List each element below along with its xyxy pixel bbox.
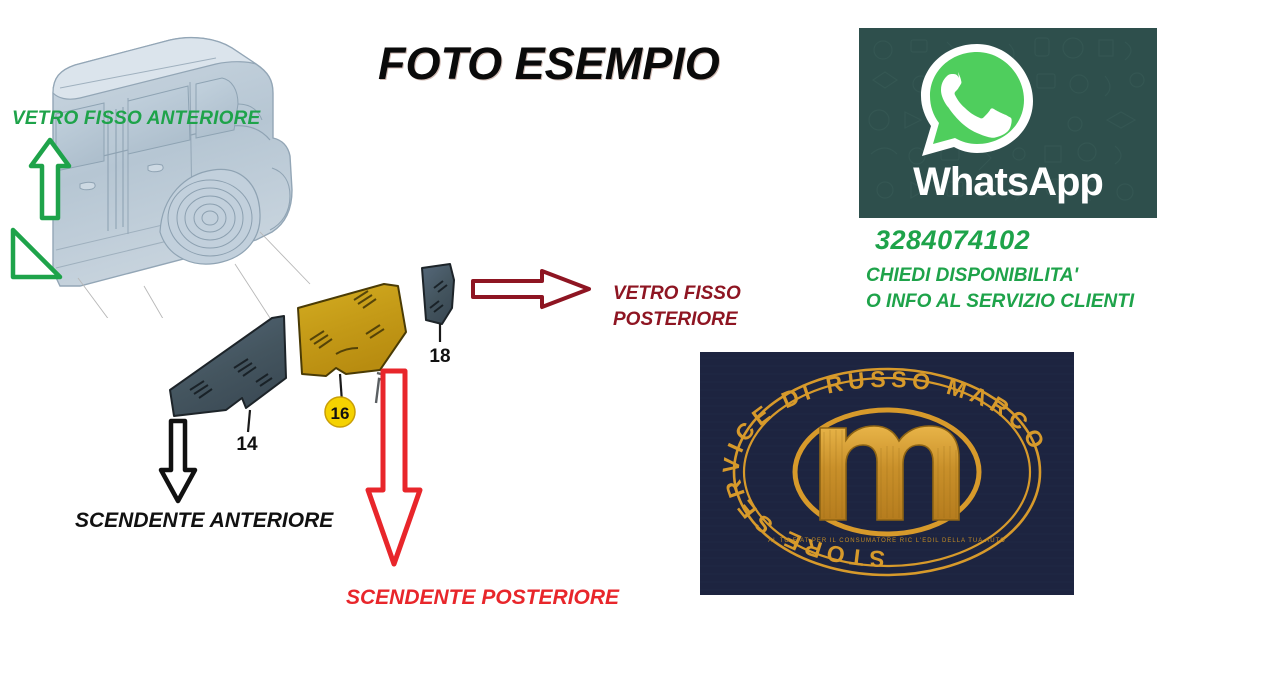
label-front-fixed-glass: VETRO FISSO ANTERIORE (12, 108, 260, 130)
shop-logo-tagline: AL TO FIAT PER IL CONSUMATORE RIC L'EDIL… (768, 538, 1006, 544)
whatsapp-banner: WhatsApp (859, 28, 1157, 218)
contact-instructions: CHIEDI DISPONIBILITA' O INFO AL SERVIZIO… (866, 263, 1134, 314)
part-17-guide-rail (376, 373, 392, 403)
shop-logo-icon: MRICAMBISTORE SERVICE DI RUSSO MARCO AL … (700, 352, 1074, 595)
poster-canvas: 14 16 17 (0, 0, 1264, 678)
part-number-14: 14 (236, 434, 258, 455)
part-number-17: 17 (379, 400, 400, 421)
exploded-glass-parts: 14 16 17 (150, 250, 490, 470)
label-rear-drop-glass: SCENDENTE POSTERIORE (346, 586, 619, 610)
part-18-quarter-glass (422, 264, 454, 324)
phone-number[interactable]: 3284074102 (875, 225, 1030, 256)
label-front-drop-glass: SCENDENTE ANTERIORE (75, 509, 333, 533)
label-rear-fixed-glass-line1: VETRO FISSO (613, 281, 741, 307)
shop-logo-monogram (820, 426, 959, 520)
contact-line-1: CHIEDI DISPONIBILITA' (866, 263, 1134, 289)
whatsapp-logo-icon (911, 38, 1043, 164)
contact-line-2: O INFO AL SERVIZIO CLIENTI (866, 289, 1134, 315)
part-number-16: 16 (331, 404, 350, 423)
label-rear-fixed-glass: VETRO FISSO POSTERIORE (613, 281, 741, 332)
part-14-front-door-glass (170, 316, 286, 416)
parts-svg: 14 16 17 (150, 250, 490, 470)
whatsapp-wordmark: WhatsApp (859, 160, 1157, 205)
shop-logo-panel: MRICAMBISTORE SERVICE DI RUSSO MARCO AL … (700, 352, 1074, 595)
label-rear-fixed-glass-line2: POSTERIORE (613, 307, 741, 333)
part-badge-16: 16 (325, 397, 355, 427)
part-number-18: 18 (429, 346, 450, 367)
part-16-rear-door-glass (298, 284, 406, 376)
page-title: FOTO ESEMPIO (378, 38, 720, 90)
